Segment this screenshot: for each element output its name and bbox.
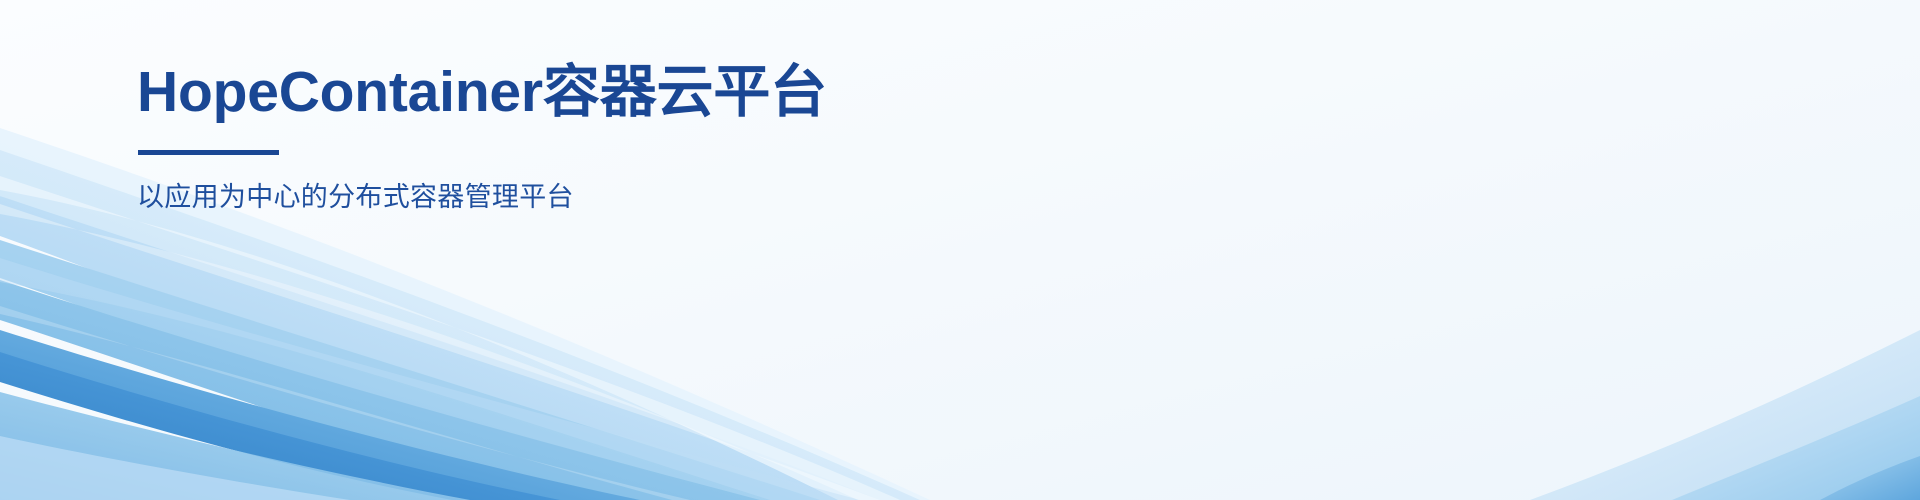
right-wave-group [1530, 330, 1920, 500]
banner-content: HopeContainer容器云平台 以应用为中心的分布式容器管理平台 [137, 0, 827, 500]
page-title: HopeContainer容器云平台 [137, 63, 827, 123]
page-banner: HopeContainer容器云平台 以应用为中心的分布式容器管理平台 [0, 0, 1920, 500]
title-accent-divider [138, 150, 279, 155]
page-subtitle: 以应用为中心的分布式容器管理平台 [137, 179, 827, 215]
